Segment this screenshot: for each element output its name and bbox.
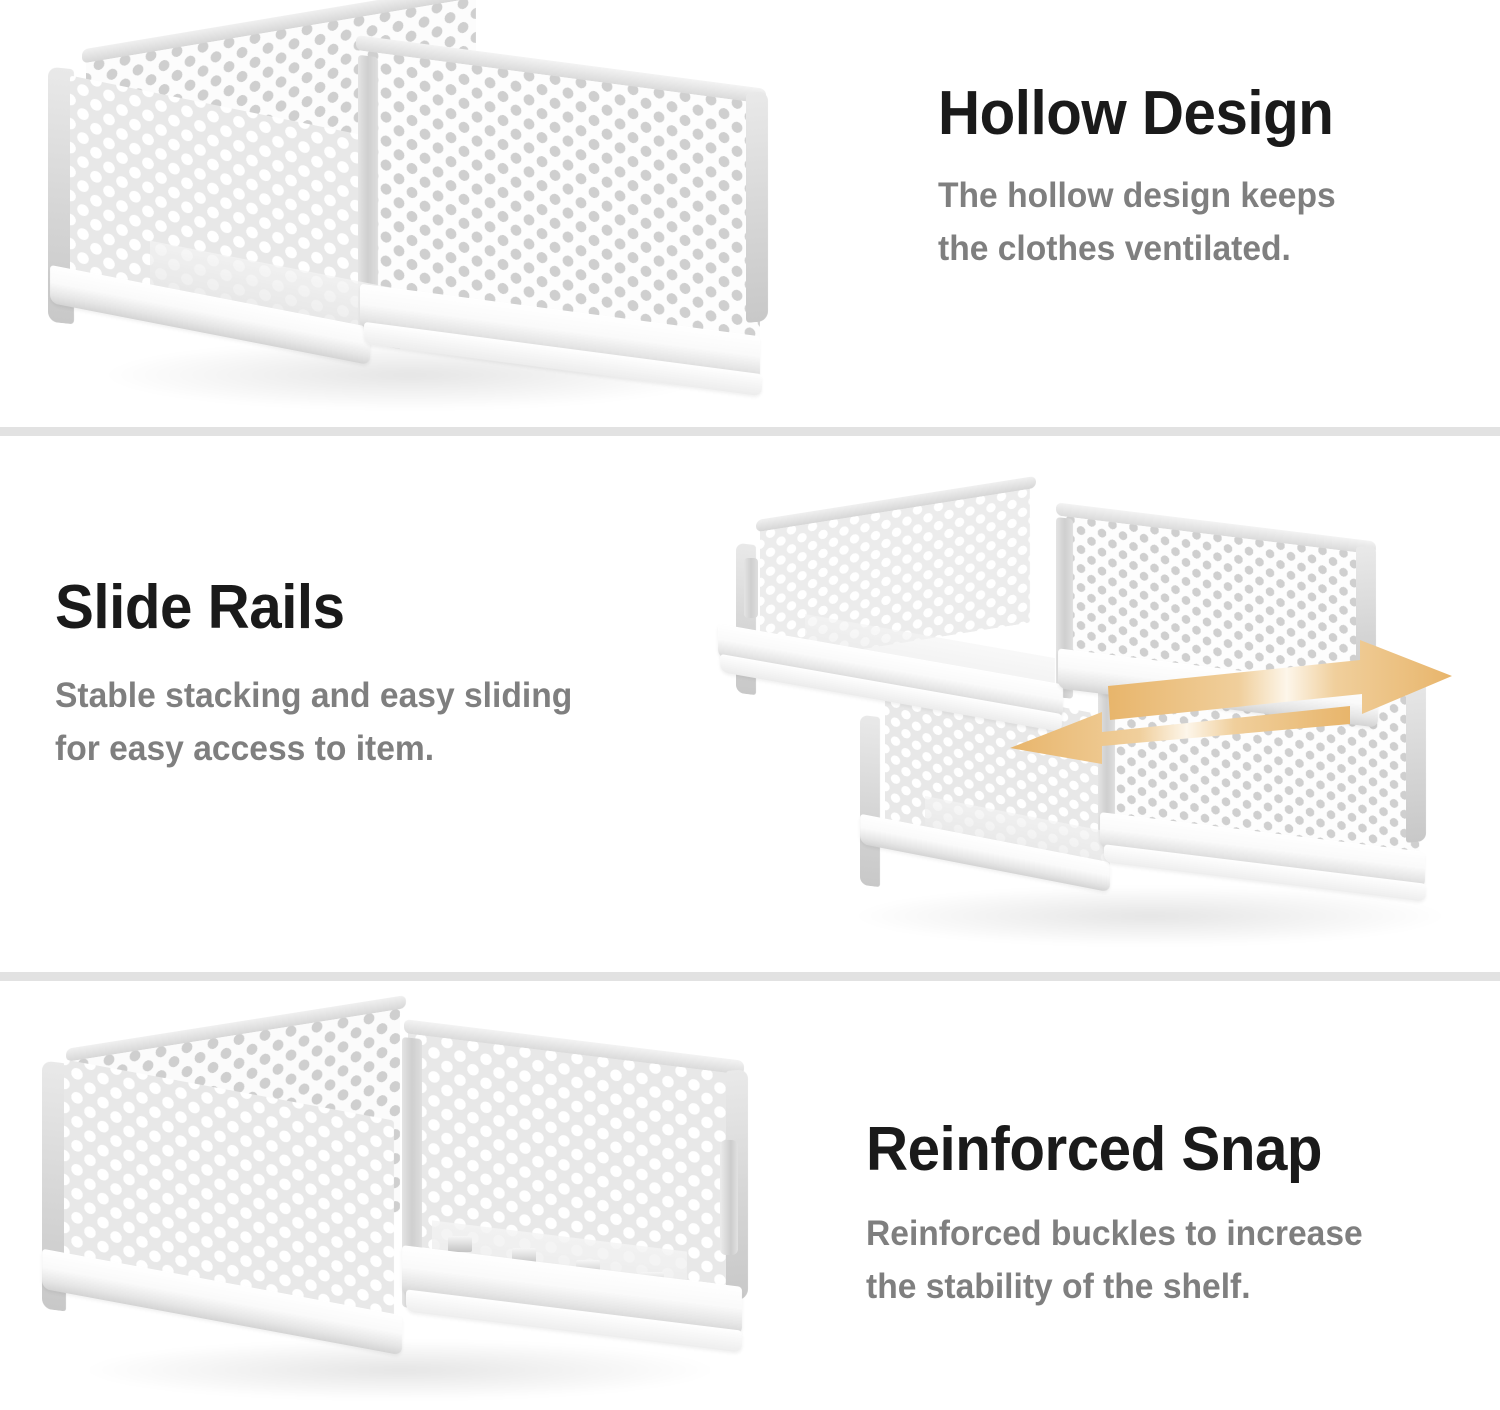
reinforced-snap-buckle	[448, 1236, 472, 1252]
product-image-reinforced-snap	[20, 1000, 820, 1410]
body-reinforced-snap: Reinforced buckles to increase the stabi…	[866, 1207, 1461, 1313]
text-block-slide-rails: Slide Rails Stable stacking and easy sli…	[55, 576, 735, 776]
basket-frame-right	[746, 91, 768, 323]
text-block-reinforced-snap: Reinforced Snap Reinforced buckles to in…	[866, 1118, 1486, 1314]
contact-shadow	[850, 886, 1450, 946]
section-hollow-design: Hollow Design The hollow design keeps th…	[0, 0, 1500, 427]
slide-direction-arrow	[990, 636, 1460, 766]
upper-basket-side-hinge	[744, 558, 758, 618]
text-block-hollow-design: Hollow Design The hollow design keeps th…	[938, 82, 1483, 276]
headline-reinforced-snap: Reinforced Snap	[866, 1118, 1449, 1181]
body-line: for easy access to item.	[55, 722, 708, 775]
headline-hollow-design: Hollow Design	[938, 82, 1450, 145]
body-line: The hollow design keeps	[938, 169, 1461, 222]
product-image-slide-rails	[700, 466, 1500, 956]
body-line: the stability of the shelf.	[866, 1260, 1461, 1313]
section-reinforced-snap: Reinforced Snap Reinforced buckles to in…	[0, 981, 1500, 1410]
reinforced-buckle-hinge	[720, 1140, 738, 1255]
section-slide-rails: Slide Rails Stable stacking and easy sli…	[0, 436, 1500, 972]
body-line: the clothes ventilated.	[938, 222, 1461, 275]
headline-slide-rails: Slide Rails	[55, 576, 694, 639]
section-divider-2	[0, 972, 1500, 981]
body-line: Stable stacking and easy sliding	[55, 669, 708, 722]
double-headed-horizontal-arrow-icon	[990, 636, 1460, 766]
body-line: Reinforced buckles to increase	[866, 1207, 1461, 1260]
section-divider-1	[0, 427, 1500, 436]
body-hollow-design: The hollow design keeps the clothes vent…	[938, 169, 1461, 275]
product-image-hollow-design	[40, 10, 800, 410]
lower-basket-frame-left	[860, 715, 880, 887]
body-slide-rails: Stable stacking and easy sliding for eas…	[55, 669, 708, 775]
product-feature-infographic: Hollow Design The hollow design keeps th…	[0, 0, 1500, 1410]
